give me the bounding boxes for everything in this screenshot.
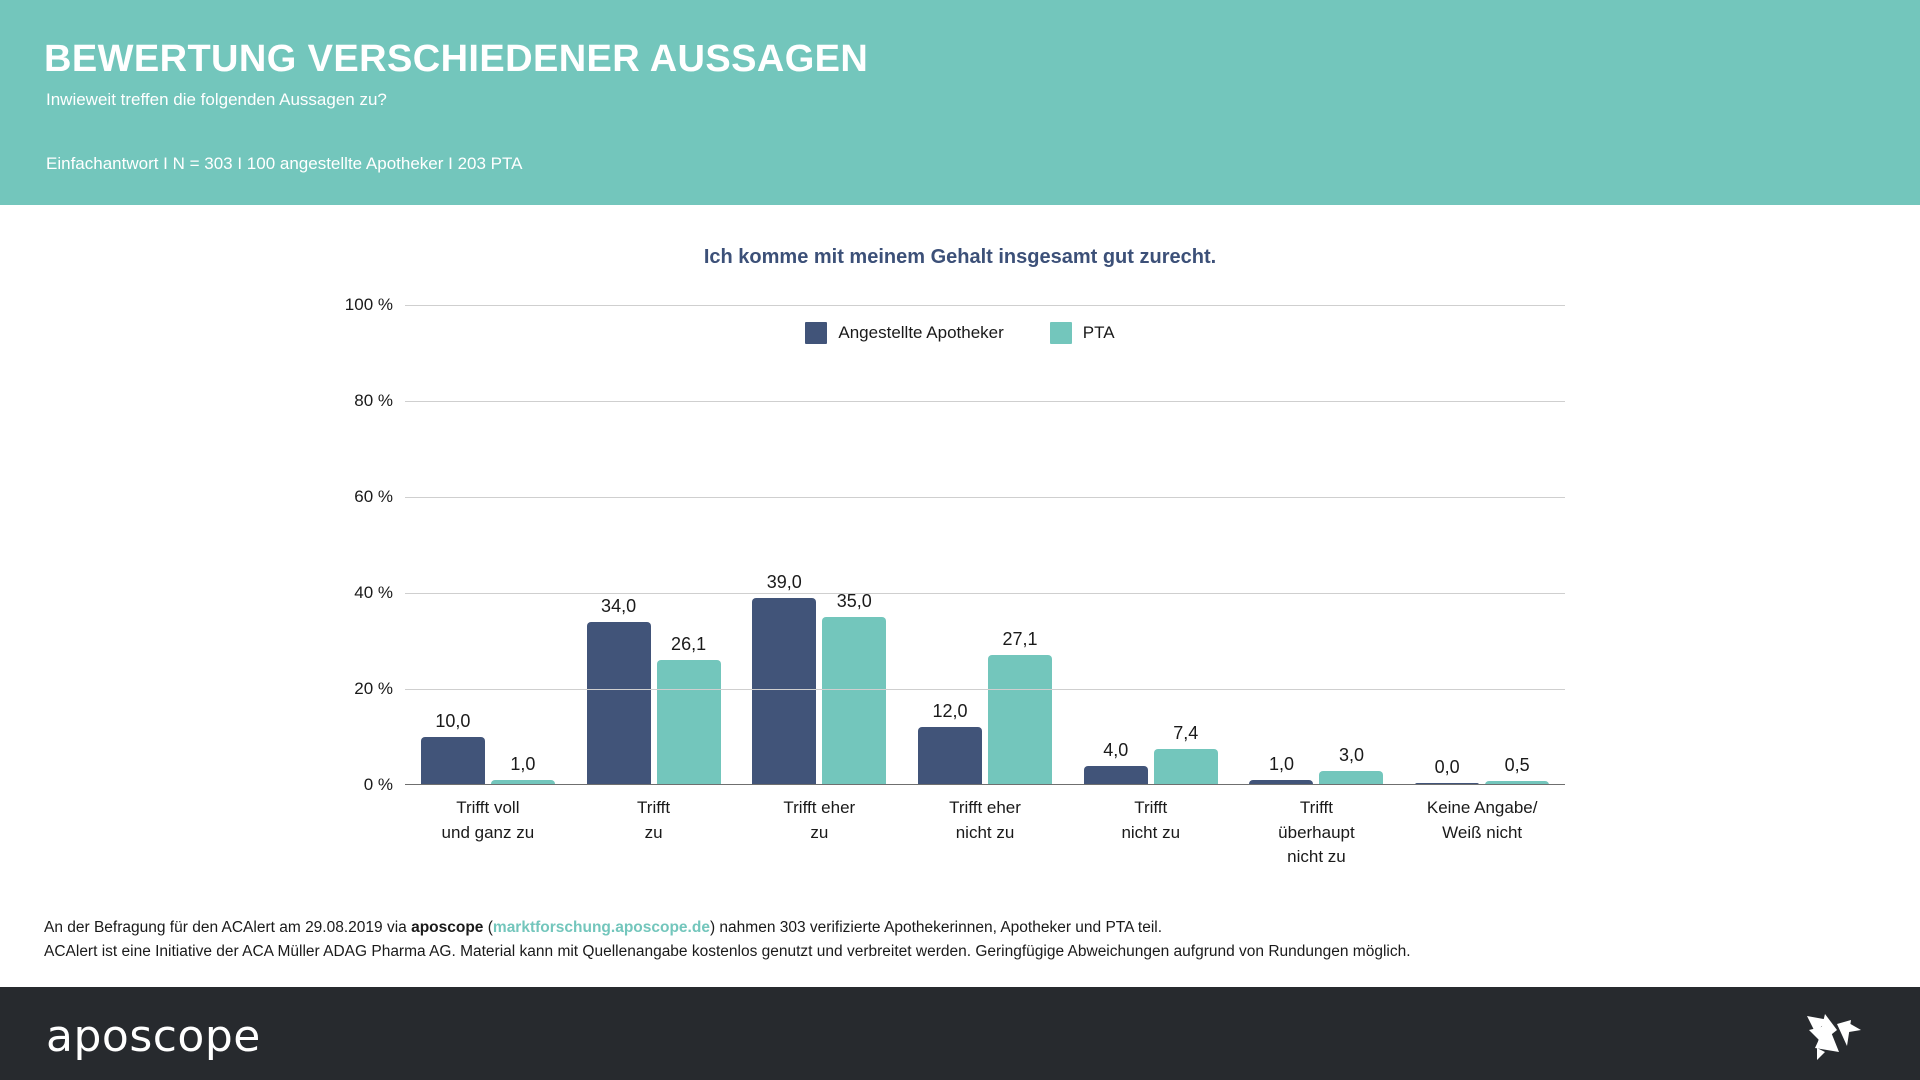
origami-bird-icon [1795, 1000, 1871, 1066]
x-axis-label: Trifftüberhauptnicht zu [1234, 796, 1400, 870]
bar-value-label: 1,0 [1269, 754, 1294, 775]
bar[interactable]: 10,0 [421, 737, 485, 785]
page-title: BEWERTUNG VERSCHIEDENER AUSSAGEN [44, 38, 868, 81]
bar-value-label: 12,0 [932, 701, 967, 722]
bar[interactable]: 35,0 [822, 617, 886, 785]
x-axis-label: Trifftzu [571, 796, 737, 870]
y-axis-tick: 20 % [354, 679, 393, 699]
bar-groups: 10,01,034,026,139,035,012,027,14,07,41,0… [405, 305, 1565, 785]
bar-value-label: 27,1 [1002, 629, 1037, 650]
x-axis-line [405, 784, 1565, 786]
bar[interactable]: 39,0 [752, 598, 816, 785]
gridline [405, 689, 1565, 690]
gridline [405, 593, 1565, 594]
x-axis-label: Trifft eherzu [736, 796, 902, 870]
x-axis-label: Trifft vollund ganz zu [405, 796, 571, 870]
bar-value-label: 3,0 [1339, 745, 1364, 766]
y-axis-tick: 40 % [354, 583, 393, 603]
bar-value-label: 4,0 [1103, 740, 1128, 761]
y-axis-tick: 100 % [345, 295, 393, 315]
bar-value-label: 7,4 [1173, 723, 1198, 744]
bar-value-label: 0,0 [1435, 757, 1460, 778]
gridline [405, 497, 1565, 498]
bar-group: 4,07,4 [1068, 305, 1234, 785]
bar-group: 12,027,1 [902, 305, 1068, 785]
bar-value-label: 10,0 [435, 711, 470, 732]
brand-wordmark: aposcope [46, 1011, 261, 1062]
plot-area: 10,01,034,026,139,035,012,027,14,07,41,0… [405, 305, 1565, 785]
gridline [405, 305, 1565, 306]
bar-group: 39,035,0 [736, 305, 902, 785]
bar-value-label: 39,0 [767, 572, 802, 593]
bottom-bar [0, 987, 1920, 1080]
bar[interactable]: 26,1 [657, 660, 721, 785]
bar-group: 34,026,1 [571, 305, 737, 785]
bar-group: 10,01,0 [405, 305, 571, 785]
y-axis-tick: 80 % [354, 391, 393, 411]
bar[interactable]: 34,0 [587, 622, 651, 785]
chart-page: BEWERTUNG VERSCHIEDENER AUSSAGEN Inwiewe… [0, 0, 1920, 1080]
bar[interactable]: 4,0 [1084, 766, 1148, 785]
chart-title: Ich komme mit meinem Gehalt insgesamt gu… [0, 246, 1920, 269]
survey-meta: Einfachantwort I N = 303 I 100 angestell… [46, 154, 522, 174]
y-axis-tick: 60 % [354, 487, 393, 507]
bar-group: 0,00,5 [1399, 305, 1565, 785]
footnote-line-2: ACAlert ist eine Initiative der ACA Müll… [44, 940, 1884, 964]
footnote-text-a: An der Befragung für den ACAlert am 29.0… [44, 919, 411, 936]
bar-value-label: 35,0 [837, 591, 872, 612]
footnote-line-1: An der Befragung für den ACAlert am 29.0… [44, 916, 1884, 940]
footnote-text-c: ) nahmen 303 verifizierte Apothekerinnen… [710, 919, 1162, 936]
y-axis-tick: 0 % [364, 775, 393, 795]
bar[interactable]: 7,4 [1154, 749, 1218, 785]
footnote: An der Befragung für den ACAlert am 29.0… [44, 916, 1884, 964]
bar-group: 1,03,0 [1234, 305, 1400, 785]
x-axis-label: Keine Angabe/Weiß nicht [1399, 796, 1565, 870]
footnote-brand: aposcope [411, 919, 483, 936]
bar-value-label: 0,5 [1505, 755, 1530, 776]
x-axis-labels: Trifft vollund ganz zuTrifftzuTrifft ehe… [405, 796, 1565, 870]
x-axis-label: Trifft ehernicht zu [902, 796, 1068, 870]
header-band: BEWERTUNG VERSCHIEDENER AUSSAGEN Inwiewe… [0, 0, 1920, 205]
x-axis-label: Trifftnicht zu [1068, 796, 1234, 870]
bar[interactable]: 27,1 [988, 655, 1052, 785]
footnote-text-b: ( [483, 919, 492, 936]
footnote-link[interactable]: marktforschung.aposcope.de [493, 919, 710, 936]
gridline [405, 401, 1565, 402]
bar-value-label: 1,0 [510, 754, 535, 775]
page-subtitle: Inwieweit treffen die folgenden Aussagen… [46, 90, 387, 110]
bar-value-label: 26,1 [671, 634, 706, 655]
bar[interactable]: 12,0 [918, 727, 982, 785]
bar-value-label: 34,0 [601, 596, 636, 617]
